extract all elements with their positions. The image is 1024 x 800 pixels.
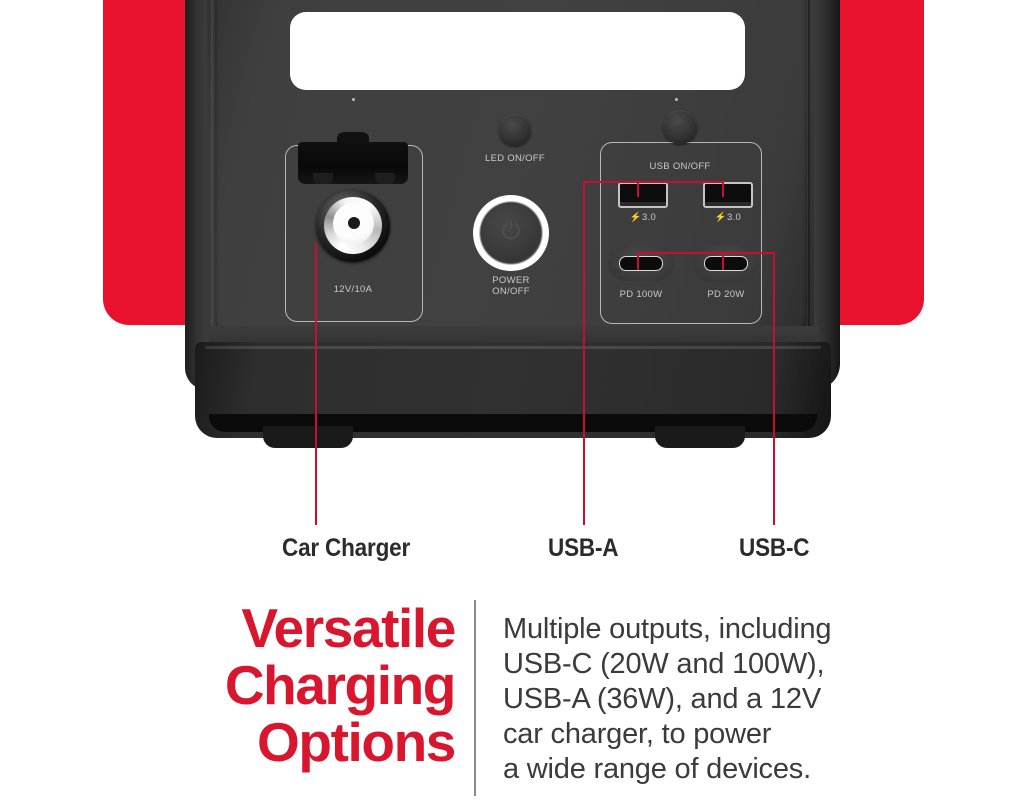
power-on-off-label-line1: POWER	[461, 275, 561, 286]
power-symbol-icon: ⏻	[500, 219, 522, 245]
footer-body-line-5: a wide range of devices.	[503, 752, 923, 787]
device-base-highlight	[205, 346, 821, 349]
footer-body-line-1: Multiple outputs, including	[503, 612, 923, 647]
car-charger-port-label: 12V/10A	[303, 284, 403, 295]
leader-line-car-charger	[315, 243, 317, 525]
device-seam-left	[211, 0, 213, 382]
usb-c-port-left[interactable]	[608, 245, 674, 281]
leader-line-usb-c-stub-left	[637, 252, 639, 270]
power-on-off-label-line2: ON/OFF	[461, 286, 561, 297]
device-foot-right	[655, 426, 745, 448]
callout-label-usb-a: USB-A	[548, 534, 618, 563]
device-seam-right	[808, 0, 810, 382]
car-socket-cover-nub-right	[375, 173, 395, 184]
footer-body-line-3: USB-A (36W), and a 12V	[503, 682, 923, 717]
device-left-edge	[185, 0, 207, 390]
led-on-off-button[interactable]	[499, 114, 531, 146]
carry-handle-cutout	[290, 12, 745, 90]
infographic-canvas: 12V/10A LED ON/OFF ⏻ POWER ON/OFF USB ON…	[0, 0, 1024, 800]
usb-c-port-right[interactable]	[693, 245, 759, 281]
leader-line-usb-c-drop	[773, 252, 775, 525]
indicator-dot-right	[675, 98, 678, 101]
car-charger-socket-pin	[348, 217, 360, 229]
usb-a-port-left[interactable]	[618, 182, 668, 208]
usb-c-port-right-slot	[704, 256, 748, 271]
footer-headline: Versatile Charging Options	[60, 600, 455, 771]
leader-line-usb-a-bar	[583, 181, 724, 183]
led-on-off-label: LED ON/OFF	[465, 153, 565, 164]
leader-line-usb-a-stub-left	[637, 181, 639, 197]
usb-a-port-right-label: ⚡3.0	[678, 212, 778, 223]
footer-headline-line-3: Options	[60, 714, 455, 771]
usb-c-port-left-slot	[619, 256, 663, 271]
footer-headline-line-1: Versatile	[60, 600, 455, 657]
leader-line-usb-c-bar	[637, 252, 775, 254]
car-socket-cover-nub-left	[313, 173, 333, 184]
usb-on-off-label: USB ON/OFF	[630, 161, 730, 172]
footer-divider	[474, 600, 476, 796]
footer-body-line-4: car charger, to power	[503, 717, 923, 752]
footer-headline-line-2: Charging	[60, 657, 455, 714]
leader-line-usb-a-drop	[583, 181, 585, 525]
leader-line-usb-c-stub-right	[722, 252, 724, 270]
callout-label-usb-c: USB-C	[739, 534, 809, 563]
usb-a-port-right[interactable]	[703, 182, 753, 208]
device-foot-left	[263, 426, 353, 448]
power-station-device: 12V/10A LED ON/OFF ⏻ POWER ON/OFF USB ON…	[185, 0, 840, 450]
usb-c-port-right-label: PD 20W	[676, 289, 776, 300]
footer-body-line-2: USB-C (20W and 100W),	[503, 647, 923, 682]
leader-line-usb-a-stub-right	[722, 181, 724, 197]
usb-on-off-button[interactable]	[663, 110, 697, 144]
callout-label-car-charger: Car Charger	[282, 534, 410, 563]
footer-body-copy: Multiple outputs, including USB-C (20W a…	[503, 612, 923, 787]
indicator-dot-left	[352, 98, 355, 101]
